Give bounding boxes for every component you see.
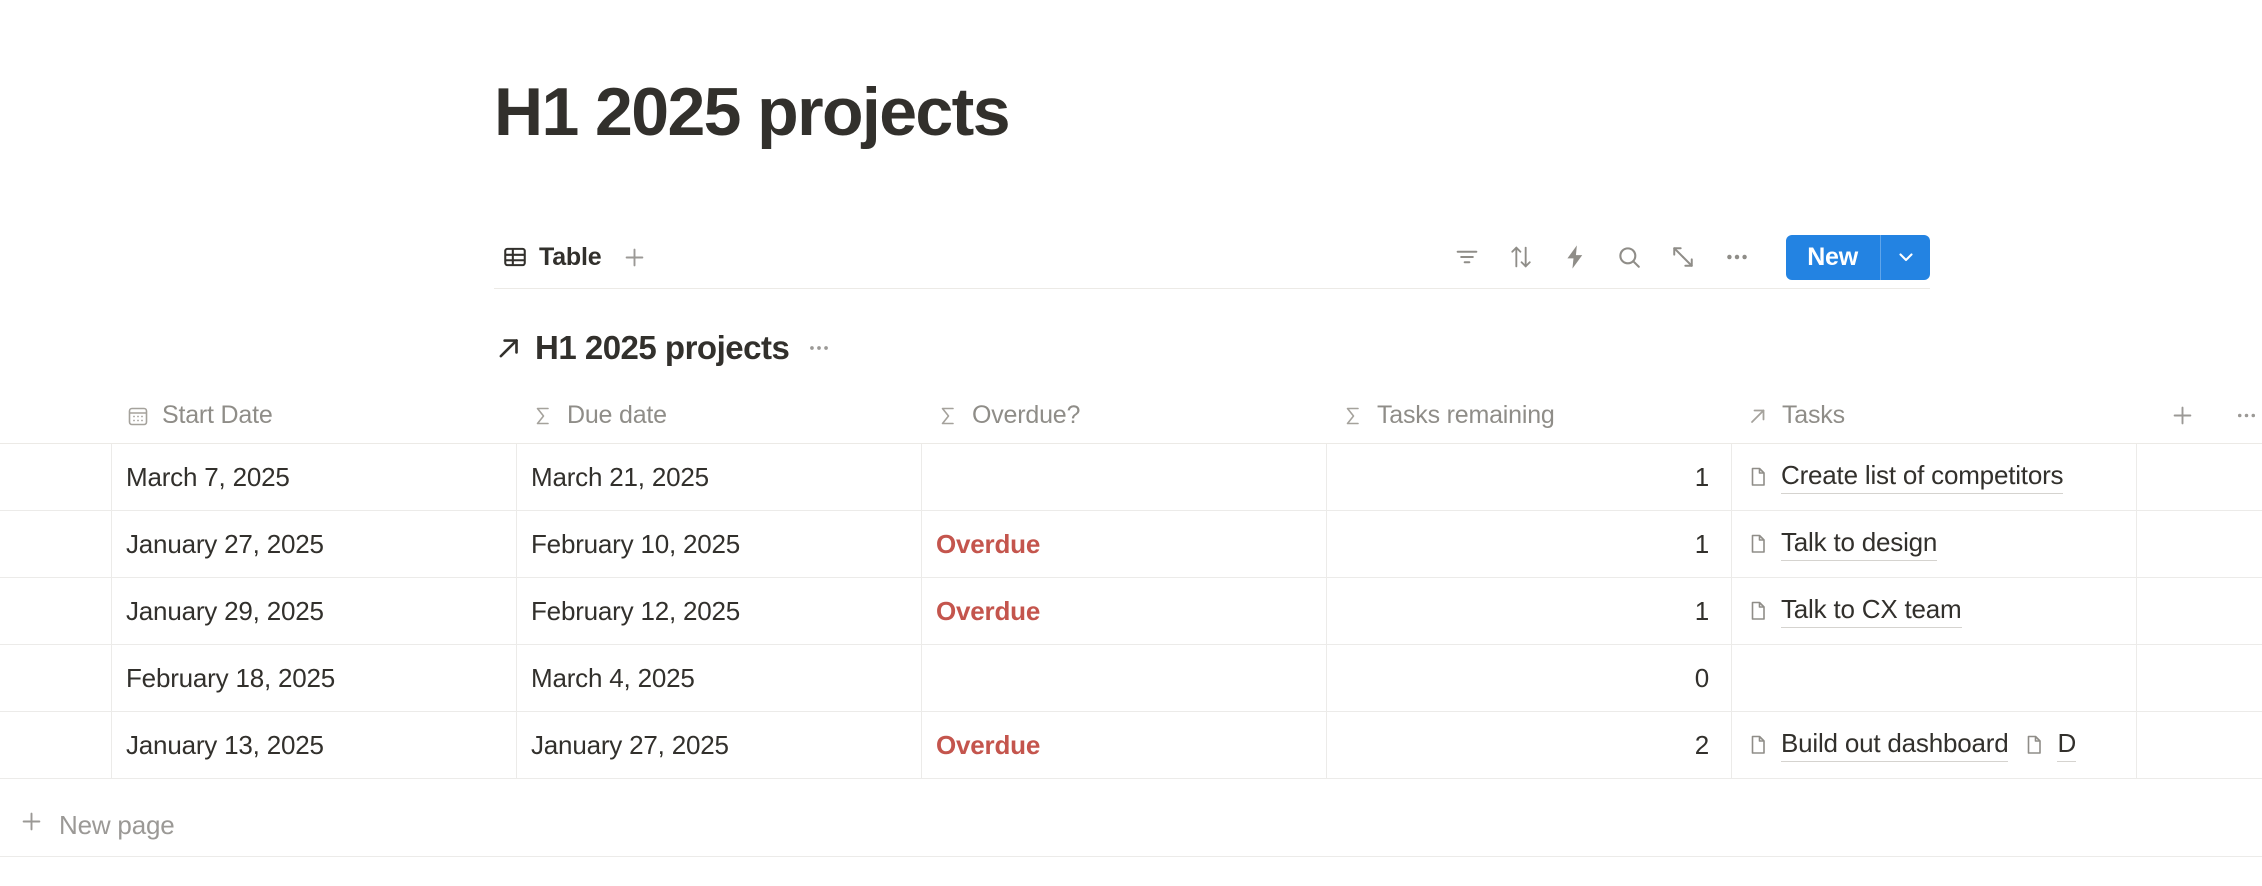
cell-tasks-remaining[interactable]: 1 — [1327, 444, 1732, 510]
cell-tasks-remaining[interactable]: 2 — [1327, 712, 1732, 778]
relation-arrow-icon — [1746, 404, 1770, 428]
cell-due-date[interactable]: February 10, 2025 — [517, 511, 922, 577]
formula-sigma-icon — [936, 404, 960, 428]
task-chip-label: Build out dashboard — [1781, 728, 2008, 762]
task-chip-label: Talk to CX team — [1781, 594, 1962, 628]
lightning-icon[interactable] — [1556, 238, 1594, 276]
table-row[interactable]: February 18, 2025 March 4, 2025 0 — [0, 645, 2262, 712]
row-handle-cell — [0, 444, 112, 510]
cell-start-date[interactable]: February 18, 2025 — [112, 645, 517, 711]
section-more-icon[interactable] — [800, 333, 838, 363]
calendar-icon — [126, 404, 150, 428]
table-options-button[interactable] — [2227, 397, 2262, 435]
status-badge: Overdue — [936, 596, 1040, 627]
task-chip-list: Create list of competitors — [1746, 460, 2063, 494]
cell-tasks-remaining[interactable]: 1 — [1327, 511, 1732, 577]
cell-due-date[interactable]: March 4, 2025 — [517, 645, 922, 711]
column-header-label: Due date — [567, 401, 667, 430]
expand-icon[interactable] — [1664, 238, 1702, 276]
task-chip[interactable]: Talk to CX team — [1746, 594, 1962, 628]
document-icon — [1746, 465, 1770, 489]
cell-tasks[interactable]: Build out dashboard D — [1732, 712, 2137, 778]
cell-due-date[interactable]: March 21, 2025 — [517, 444, 922, 510]
cell-start-date[interactable]: January 27, 2025 — [112, 511, 517, 577]
database-table: Start Date Due date Overdue? — [0, 388, 2262, 848]
column-header-tasks-remaining[interactable]: Tasks remaining — [1327, 388, 1732, 443]
column-header-label: Tasks remaining — [1377, 401, 1555, 430]
more-icon[interactable] — [1718, 238, 1756, 276]
cell-overdue[interactable]: Overdue — [922, 712, 1327, 778]
cell-tasks[interactable] — [1732, 645, 2137, 711]
table-grid-icon — [502, 244, 528, 270]
document-icon — [1746, 599, 1770, 623]
cell-start-date[interactable]: January 29, 2025 — [112, 578, 517, 644]
add-column-button[interactable] — [2163, 397, 2201, 435]
cell-overdue[interactable] — [922, 444, 1327, 510]
task-chip[interactable]: D — [2022, 728, 2076, 762]
document-icon — [1746, 532, 1770, 556]
column-header-tasks[interactable]: Tasks — [1732, 388, 2137, 443]
tab-table-label: Table — [539, 243, 601, 272]
row-handle-cell — [0, 645, 112, 711]
task-chip[interactable]: Talk to design — [1746, 527, 1937, 561]
cell-start-date[interactable]: March 7, 2025 — [112, 444, 517, 510]
cell-overdue[interactable]: Overdue — [922, 578, 1327, 644]
formula-sigma-icon — [1341, 404, 1365, 428]
page-title: H1 2025 projects — [494, 78, 1009, 146]
row-handle-cell — [0, 578, 112, 644]
new-page-button[interactable]: New page — [0, 794, 2262, 856]
new-page-label: New page — [59, 810, 174, 841]
cell-empty[interactable] — [2137, 712, 2262, 778]
row-handle-cell — [0, 511, 112, 577]
notion-database-page: H1 2025 projects Table — [0, 0, 2262, 886]
task-chip-list: Talk to CX team — [1746, 594, 1962, 628]
new-button[interactable]: New — [1786, 235, 1930, 280]
linked-database-title[interactable]: H1 2025 projects — [535, 329, 789, 367]
new-button-label[interactable]: New — [1786, 235, 1880, 280]
view-tab-group: Table — [494, 238, 653, 276]
filter-icon[interactable] — [1448, 238, 1486, 276]
footer-divider — [0, 856, 2262, 857]
task-chip[interactable]: Create list of competitors — [1746, 460, 2063, 494]
cell-empty[interactable] — [2137, 578, 2262, 644]
cell-due-date[interactable]: January 27, 2025 — [517, 712, 922, 778]
formula-sigma-icon — [531, 404, 555, 428]
task-chip-label: Talk to design — [1781, 527, 1937, 561]
cell-tasks-remaining[interactable]: 0 — [1327, 645, 1732, 711]
cell-empty[interactable] — [2137, 444, 2262, 510]
cell-tasks-remaining[interactable]: 1 — [1327, 578, 1732, 644]
add-view-button[interactable] — [615, 238, 653, 276]
linked-database-header: H1 2025 projects — [494, 325, 838, 371]
document-icon — [2022, 733, 2046, 757]
column-header-label: Start Date — [162, 401, 273, 430]
task-chip-list: Build out dashboard D — [1746, 728, 2076, 762]
sort-icon[interactable] — [1502, 238, 1540, 276]
table-row[interactable]: March 7, 2025 March 21, 2025 1 Create li… — [0, 444, 2262, 511]
column-header-due-date[interactable]: Due date — [517, 388, 922, 443]
status-badge: Overdue — [936, 730, 1040, 761]
column-header-overdue[interactable]: Overdue? — [922, 388, 1327, 443]
table-row[interactable]: January 13, 2025 January 27, 2025 Overdu… — [0, 712, 2262, 779]
table-row[interactable]: January 29, 2025 February 12, 2025 Overd… — [0, 578, 2262, 645]
column-header-label: Tasks — [1782, 401, 1845, 430]
table-header-row: Start Date Due date Overdue? — [0, 388, 2262, 444]
column-header-label: Overdue? — [972, 401, 1080, 430]
task-chip-list: Talk to design — [1746, 527, 1937, 561]
cell-tasks[interactable]: Talk to CX team — [1732, 578, 2137, 644]
column-header-start-date[interactable]: Start Date — [112, 388, 517, 443]
cell-due-date[interactable]: February 12, 2025 — [517, 578, 922, 644]
table-header-actions — [2137, 388, 2262, 443]
search-icon[interactable] — [1610, 238, 1648, 276]
task-chip[interactable]: Build out dashboard — [1746, 728, 2008, 762]
cell-overdue[interactable]: Overdue — [922, 511, 1327, 577]
plus-icon — [18, 808, 45, 842]
row-handle-cell — [0, 712, 112, 778]
chevron-down-icon[interactable] — [1880, 235, 1930, 280]
tab-table[interactable]: Table — [494, 239, 609, 276]
task-chip-label: Create list of competitors — [1781, 460, 2063, 494]
toolbar-divider — [494, 288, 1930, 289]
cell-empty[interactable] — [2137, 511, 2262, 577]
task-chip-label: D — [2057, 728, 2076, 762]
cell-tasks[interactable]: Create list of competitors — [1732, 444, 2137, 510]
link-arrow-icon — [494, 333, 524, 363]
status-badge: Overdue — [936, 529, 1040, 560]
cell-empty[interactable] — [2137, 645, 2262, 711]
view-toolbar: Table — [494, 228, 1930, 286]
document-icon — [1746, 733, 1770, 757]
cell-overdue[interactable] — [922, 645, 1327, 711]
cell-start-date[interactable]: January 13, 2025 — [112, 712, 517, 778]
table-row[interactable]: January 27, 2025 February 10, 2025 Overd… — [0, 511, 2262, 578]
column-header-spacer — [0, 388, 112, 443]
cell-tasks[interactable]: Talk to design — [1732, 511, 2137, 577]
toolbar-actions: New — [1448, 235, 1930, 280]
